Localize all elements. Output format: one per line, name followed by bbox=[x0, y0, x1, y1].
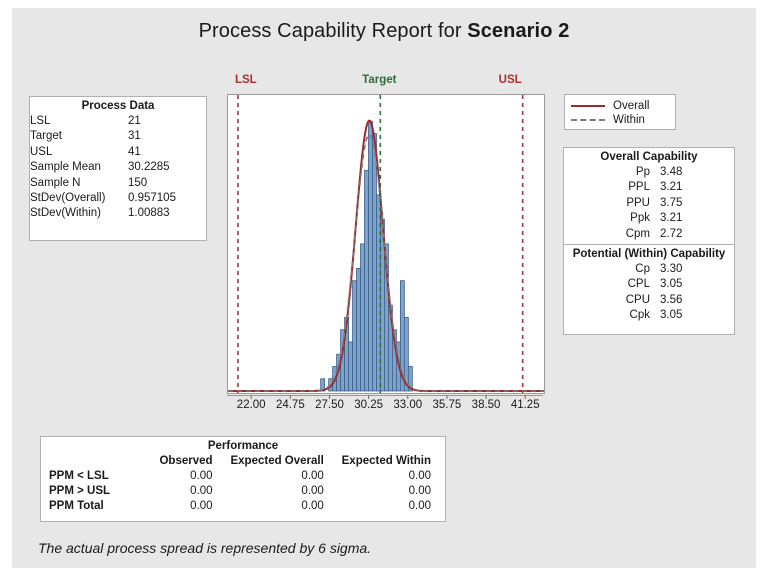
performance-cell: 0.00 bbox=[338, 484, 445, 499]
within-capability-row-value: 3.05 bbox=[660, 308, 734, 323]
process-data-row-label: Sample Mean bbox=[30, 160, 128, 175]
lsl-label: LSL bbox=[235, 74, 257, 86]
within-capability-row: Cpk3.05 bbox=[564, 308, 734, 323]
performance-row: PPM > USL0.000.000.00 bbox=[41, 484, 445, 499]
performance-column-header: Expected Overall bbox=[227, 454, 338, 469]
within-capability-row-label: Cp bbox=[564, 262, 660, 277]
performance-row-label: PPM < LSL bbox=[41, 469, 157, 484]
performance-row-label: PPM > USL bbox=[41, 484, 157, 499]
process-data-row-label: Sample N bbox=[30, 176, 128, 191]
performance-header-row: ObservedExpected OverallExpected Within bbox=[41, 454, 445, 469]
plot-area bbox=[227, 94, 545, 394]
performance-row: PPM Total0.000.000.00 bbox=[41, 499, 445, 514]
page-title: Process Capability Report for Scenario 2 bbox=[12, 20, 756, 43]
process-data-row-label: USL bbox=[30, 145, 128, 160]
performance-row: PPM < LSL0.000.000.00 bbox=[41, 469, 445, 484]
performance-cell: 0.00 bbox=[157, 469, 227, 484]
performance-cell: 0.00 bbox=[157, 499, 227, 514]
process-data-row: Sample N150 bbox=[30, 176, 206, 191]
process-data-row: Target31 bbox=[30, 129, 206, 144]
legend-item-within: Within bbox=[565, 113, 675, 127]
process-data-row-label: LSL bbox=[30, 114, 128, 129]
overall-capability-row: PPU3.75 bbox=[564, 196, 734, 211]
performance-row-label: PPM Total bbox=[41, 499, 157, 514]
overall-capability-row: Ppk3.21 bbox=[564, 211, 734, 226]
within-capability-row: CPU3.56 bbox=[564, 293, 734, 308]
target-label: Target bbox=[362, 74, 396, 86]
within-capability-row-label: CPU bbox=[564, 293, 660, 308]
within-capability-row: CPL3.05 bbox=[564, 277, 734, 292]
process-data-row: Sample Mean30.2285 bbox=[30, 160, 206, 175]
process-data-row-value: 21 bbox=[128, 114, 206, 129]
performance-cell: 0.00 bbox=[157, 484, 227, 499]
chart-legend: Overall Within bbox=[564, 94, 676, 130]
histogram-bar bbox=[353, 281, 357, 391]
process-data-row-value: 0.957105 bbox=[128, 191, 206, 206]
title-scenario: Scenario 2 bbox=[467, 20, 569, 42]
overall-capability-row-label: Pp bbox=[564, 165, 660, 180]
within-capability-table: Cp3.30CPL3.05CPU3.56Cpk3.05 bbox=[564, 262, 734, 324]
process-data-row: StDev(Within)1.00883 bbox=[30, 206, 206, 221]
performance-column-header bbox=[41, 454, 157, 469]
overall-capability-title: Overall Capability bbox=[564, 148, 734, 165]
within-capability-row-value: 3.30 bbox=[660, 262, 734, 277]
histogram-bar bbox=[368, 121, 372, 391]
within-capability-row-value: 3.05 bbox=[660, 277, 734, 292]
x-tick-label: 30.25 bbox=[354, 399, 383, 411]
process-data-row-value: 1.00883 bbox=[128, 206, 206, 221]
legend-item-overall: Overall bbox=[565, 99, 675, 113]
overall-capability-row-value: 3.75 bbox=[660, 196, 734, 211]
x-tick-label: 24.75 bbox=[276, 399, 305, 411]
plot-svg bbox=[228, 95, 544, 393]
capability-histogram: LSL Target USL 22.0024.7527.5030.2533.00… bbox=[215, 92, 547, 398]
legend-line-dashed-icon bbox=[571, 115, 605, 125]
x-tick-label: 22.00 bbox=[237, 399, 266, 411]
histogram-bar bbox=[404, 317, 408, 391]
process-data-row: StDev(Overall)0.957105 bbox=[30, 191, 206, 206]
process-data-row-label: StDev(Within) bbox=[30, 206, 128, 221]
histogram-bar bbox=[372, 134, 376, 391]
overall-capability-row-label: PPL bbox=[564, 180, 660, 195]
overall-capability-row-value: 3.21 bbox=[660, 180, 734, 195]
performance-title: Performance bbox=[41, 437, 445, 454]
performance-cell: 0.00 bbox=[338, 469, 445, 484]
performance-panel: Performance ObservedExpected OverallExpe… bbox=[40, 436, 446, 522]
process-data-row-value: 150 bbox=[128, 176, 206, 191]
process-data-row: USL41 bbox=[30, 145, 206, 160]
overall-capability-row-value: 3.21 bbox=[660, 211, 734, 226]
overall-capability-row: Cpm2.72 bbox=[564, 227, 734, 242]
overall-capability-row-label: Ppk bbox=[564, 211, 660, 226]
process-data-row-value: 30.2285 bbox=[128, 160, 206, 175]
process-data-panel: Process Data LSL21Target31USL41Sample Me… bbox=[29, 96, 207, 241]
performance-table: ObservedExpected OverallExpected Within … bbox=[41, 454, 445, 514]
overall-capability-table: Pp3.48PPL3.21PPU3.75Ppk3.21Cpm2.72 bbox=[564, 165, 734, 242]
within-capability-row-value: 3.56 bbox=[660, 293, 734, 308]
performance-cell: 0.00 bbox=[338, 499, 445, 514]
within-capability-row: Cp3.30 bbox=[564, 262, 734, 277]
legend-line-solid-icon bbox=[571, 101, 605, 111]
process-data-table: LSL21Target31USL41Sample Mean30.2285Samp… bbox=[30, 114, 206, 222]
process-data-row: LSL21 bbox=[30, 114, 206, 129]
within-capability-title: Potential (Within) Capability bbox=[564, 245, 734, 262]
within-capability-row-label: Cpk bbox=[564, 308, 660, 323]
histogram-bar bbox=[365, 170, 369, 391]
overall-capability-row: Pp3.48 bbox=[564, 165, 734, 180]
x-axis: 22.0024.7527.5030.2533.0035.7538.5041.25 bbox=[215, 395, 547, 417]
legend-label-within: Within bbox=[613, 114, 645, 126]
process-data-row-label: Target bbox=[30, 129, 128, 144]
x-tick-label: 33.00 bbox=[393, 399, 422, 411]
performance-cell: 0.00 bbox=[227, 469, 338, 484]
overall-capability-row: PPL3.21 bbox=[564, 180, 734, 195]
x-tick-label: 35.75 bbox=[433, 399, 462, 411]
x-tick-label: 41.25 bbox=[511, 399, 540, 411]
x-tick-label: 38.50 bbox=[472, 399, 501, 411]
footnote: The actual process spread is represented… bbox=[38, 540, 371, 556]
legend-label-overall: Overall bbox=[613, 100, 649, 112]
histogram-bar bbox=[361, 244, 365, 391]
overall-capability-row-label: Cpm bbox=[564, 227, 660, 242]
performance-column-header: Observed bbox=[157, 454, 227, 469]
overall-capability-row-value: 3.48 bbox=[660, 165, 734, 180]
overall-capability-row-value: 2.72 bbox=[660, 227, 734, 242]
overall-capability-row-label: PPU bbox=[564, 196, 660, 211]
usl-label: USL bbox=[499, 74, 522, 86]
process-data-row-value: 31 bbox=[128, 129, 206, 144]
process-capability-report: Process Capability Report for Scenario 2… bbox=[12, 8, 756, 568]
within-capability-row-label: CPL bbox=[564, 277, 660, 292]
process-data-title: Process Data bbox=[30, 97, 206, 114]
histogram-bar bbox=[349, 342, 353, 391]
performance-cell: 0.00 bbox=[227, 499, 338, 514]
histogram-bar bbox=[357, 268, 361, 391]
capability-panel: Overall Capability Pp3.48PPL3.21PPU3.75P… bbox=[563, 147, 735, 335]
title-prefix: Process Capability Report for bbox=[199, 20, 468, 42]
performance-cell: 0.00 bbox=[227, 484, 338, 499]
x-tick-label: 27.50 bbox=[315, 399, 344, 411]
process-data-row-value: 41 bbox=[128, 145, 206, 160]
process-data-row-label: StDev(Overall) bbox=[30, 191, 128, 206]
performance-column-header: Expected Within bbox=[338, 454, 445, 469]
